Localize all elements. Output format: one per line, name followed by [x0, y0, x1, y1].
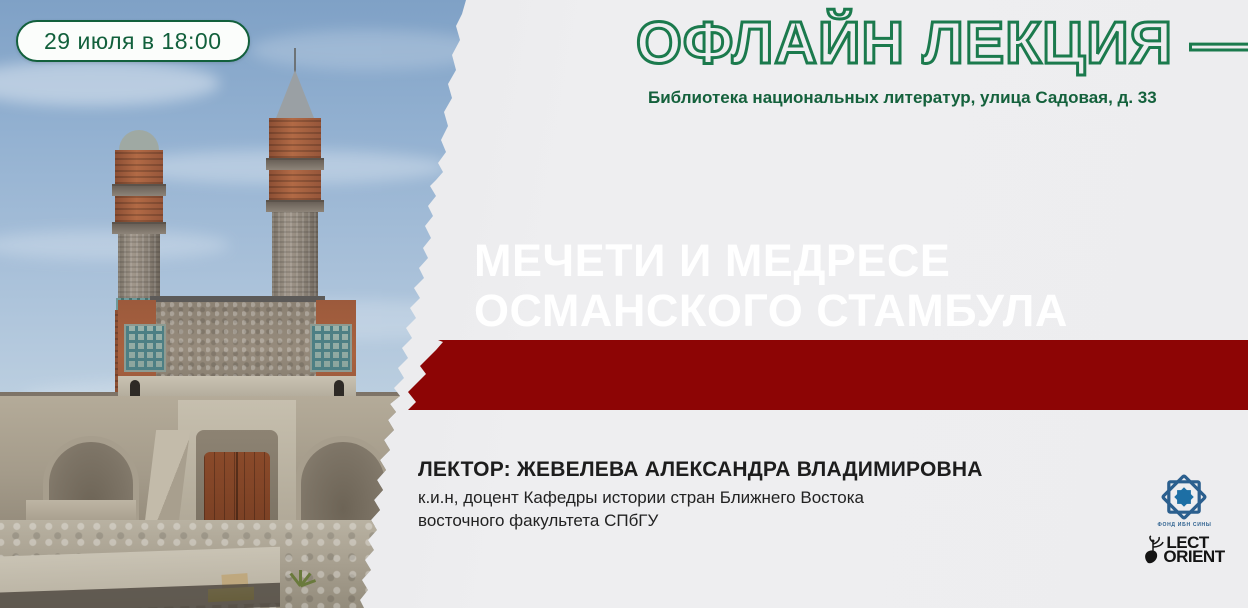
minaret-gallery — [266, 200, 324, 212]
minaret-upper-brick — [115, 150, 163, 184]
arch-rim-right — [295, 436, 391, 528]
kufic-tile-panel-right — [310, 324, 352, 372]
stone-cornice-band — [118, 376, 356, 398]
lecture-title: МЕЧЕТИ И МЕДРЕСЕ ОСМАНСКОГО СТАМБУЛА — [474, 236, 1214, 337]
minaret-dome-cap — [119, 130, 159, 150]
lecture-title-line-2: ОСМАНСКОГО СТАМБУЛА — [474, 286, 1214, 336]
minaret-gallery — [112, 184, 166, 196]
minaret-left — [118, 150, 160, 310]
eight-pointed-star-rosette-icon — [1161, 474, 1207, 520]
minaret-shaft — [272, 212, 318, 298]
partner-logos: ФОНД ИБН СИНЫ LECT ORIENT — [1132, 474, 1236, 565]
wooden-double-door — [204, 452, 270, 530]
small-plant — [288, 560, 314, 586]
event-date-badge: 29 июля в 18:00 — [16, 20, 250, 62]
venue-address: Библиотека национальных литератур, улица… — [648, 88, 1248, 108]
minaret-brick-band — [269, 170, 321, 200]
kufic-tile-panel-left — [124, 324, 166, 372]
minaret-conical-cap — [276, 70, 314, 118]
lect-orient-wordmark: LECT ORIENT — [1166, 536, 1224, 564]
lect-orient-word-2: ORIENT — [1163, 550, 1224, 564]
minaret-upper-brick — [269, 118, 321, 158]
format-kicker-heading: ОФЛАЙН ЛЕКЦИЯ — — [636, 12, 1248, 76]
lecturer-credentials-line-1: к.и.н, доцент Кафедры истории стран Ближ… — [418, 487, 1058, 510]
event-date-label: 29 июля в 18:00 — [44, 28, 222, 55]
minaret-brick-band — [115, 196, 163, 222]
minaret-right — [272, 118, 318, 310]
lecturer-credentials-line-2: восточного факультета СПбГУ — [418, 510, 1058, 533]
lecturer-block: ЛЕКТОР: ЖЕВЕЛЕВА АЛЕКСАНДРА ВЛАДИМИРОВНА… — [418, 458, 1058, 533]
ibn-sina-foundation-caption: ФОНД ИБН СИНЫ — [1157, 522, 1211, 528]
minaret-shaft — [118, 234, 160, 298]
minaret-gallery — [266, 158, 324, 170]
cloud — [250, 30, 490, 70]
poster-canvas: 29 июля в 18:00 ОФЛАЙН ЛЕКЦИЯ — Библиоте… — [0, 0, 1248, 608]
lecturer-name: ЛЕКТОР: ЖЕВЕЛЕВА АЛЕКСАНДРА ВЛАДИМИРОВНА — [418, 458, 1058, 482]
ibn-sina-foundation-logo: ФОНД ИБН СИНЫ — [1161, 474, 1208, 527]
lect-orient-logo: LECT ORIENT — [1143, 535, 1224, 565]
hookah-glyph-icon — [1143, 535, 1165, 565]
minaret-gallery — [112, 222, 166, 234]
cloud — [0, 60, 220, 106]
lecturer-credentials: к.и.н, доцент Кафедры истории стран Ближ… — [418, 487, 1058, 533]
lecture-title-line-1: МЕЧЕТИ И МЕДРЕСЕ — [474, 236, 1214, 286]
cloud — [0, 230, 230, 260]
